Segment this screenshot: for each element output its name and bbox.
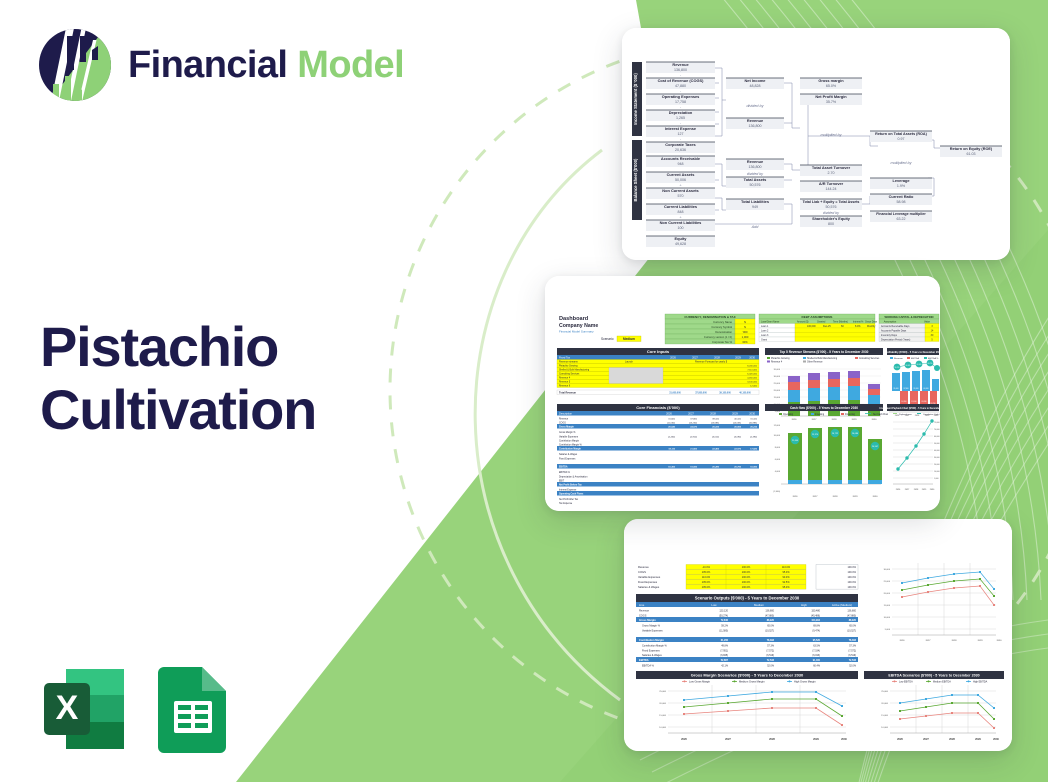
- svg-text:39,100: 39,100: [712, 418, 719, 420]
- svg-text:Gross Margin Scenarios ($'000): Gross Margin Scenarios ($'000) - 5 Years…: [691, 672, 804, 677]
- svg-text:Grace Days: Grace Days: [865, 320, 878, 323]
- svg-text:Accounts Receivable: Accounts Receivable: [661, 156, 701, 161]
- svg-text:Revenue 4: Revenue 4: [559, 378, 571, 380]
- svg-text:Payback year: Payback year: [899, 413, 912, 416]
- brand-name-part2: Model: [297, 44, 404, 86]
- svg-text:Non Current Assets: Non Current Assets: [662, 188, 698, 193]
- svg-text:Granted: Granted: [817, 320, 826, 323]
- svg-text:Loan 3: Loan 3: [761, 334, 769, 337]
- svg-text:30,000: 30,000: [884, 569, 891, 571]
- svg-text:(3,010): (3,010): [712, 436, 719, 438]
- svg-text:2027: 2027: [926, 640, 932, 642]
- svg-text:Return on Total Assets (ROA): Return on Total Assets (ROA): [875, 132, 927, 136]
- svg-text:20,000: 20,000: [934, 464, 940, 466]
- svg-text:Consulting Services: Consulting Services: [559, 373, 580, 376]
- svg-text:100.0%: 100.0%: [742, 576, 751, 579]
- svg-text:(13,230): (13,230): [689, 422, 697, 424]
- svg-text:2.70: 2.70: [828, 171, 835, 175]
- svg-text:6,020,000: 6,020,000: [747, 374, 758, 376]
- svg-text:21,640: 21,640: [792, 440, 799, 442]
- svg-text:Contribution Margin: Contribution Margin: [559, 439, 580, 442]
- svg-text:2028: 2028: [769, 737, 775, 741]
- svg-text:136,800: 136,800: [749, 165, 762, 169]
- svg-text:123,120: 123,120: [719, 610, 728, 613]
- svg-text:26,086: 26,086: [852, 433, 859, 435]
- svg-text:Fixed Expenses: Fixed Expenses: [559, 458, 576, 460]
- svg-text:Total Liabilities: Total Liabilities: [741, 199, 769, 204]
- svg-text:EBITDA: EBITDA: [559, 465, 568, 468]
- svg-text:37,800,000: 37,800,000: [695, 392, 707, 394]
- svg-text:31,600,000: 31,600,000: [669, 392, 681, 394]
- slide-canvas: Financial Model Pistachio Cultivation X: [0, 0, 1048, 782]
- svg-text:72,533: 72,533: [849, 659, 857, 662]
- svg-text:Total Liab + Equity = Total As: Total Liab + Equity = Total Assets: [803, 200, 860, 204]
- svg-text:58.98: 58.98: [897, 200, 906, 204]
- svg-text:Company Name: Company Name: [559, 323, 598, 329]
- svg-text:Cost of Revenue (COGS): Cost of Revenue (COGS): [658, 78, 705, 83]
- svg-text:Core Inputs: Core Inputs: [647, 349, 670, 354]
- svg-text:EBITDA %: EBITDA %: [642, 665, 655, 668]
- page-title: Pistachio Cultivation: [40, 315, 316, 442]
- svg-text:divided by: divided by: [746, 104, 764, 108]
- svg-text:15,000: 15,000: [881, 715, 888, 717]
- svg-text:42.1%: 42.1%: [721, 665, 729, 668]
- svg-text:(7,951): (7,951): [720, 650, 728, 653]
- svg-text:Medium: Medium: [754, 603, 765, 607]
- svg-text:40,100: 40,100: [923, 388, 928, 390]
- svg-text:59.2%: 59.2%: [895, 367, 900, 369]
- svg-text:100.0%: 100.0%: [742, 581, 751, 584]
- svg-text:2026: 2026: [900, 640, 906, 642]
- svg-text:Term (Months): Term (Months): [833, 320, 848, 323]
- svg-text:Interest Expense: Interest Expense: [559, 488, 577, 491]
- svg-text:Gross Margin %: Gross Margin %: [559, 431, 575, 434]
- svg-text:Leverage: Leverage: [892, 178, 910, 183]
- svg-text:25,000: 25,000: [659, 691, 666, 693]
- svg-text:EBIT: EBIT: [559, 480, 565, 482]
- svg-text:100.0%: 100.0%: [742, 586, 751, 589]
- svg-text:12,000: 12,000: [750, 386, 757, 388]
- svg-text:Salaries & Wages: Salaries & Wages: [559, 453, 578, 456]
- svg-text:8,000: 8,000: [775, 447, 781, 449]
- svg-text:Investment Payback Chart ($'00: Investment Payback Chart ($'000) - 5 Yea…: [880, 407, 940, 410]
- svg-text:Fixed Expenses: Fixed Expenses: [638, 580, 658, 584]
- svg-text:20,790: 20,790: [734, 466, 741, 468]
- svg-text:2026: 2026: [897, 737, 903, 741]
- dupont-diagram-thumbnail: Income Statement ($ '000) Balance Sheet …: [622, 28, 1010, 260]
- svg-text:30%: 30%: [742, 340, 748, 344]
- svg-text:X: X: [56, 689, 79, 727]
- svg-text:2029: 2029: [813, 737, 819, 741]
- svg-text:3,100,000: 3,100,000: [747, 382, 758, 384]
- svg-text:DEBT ASSUMPTIONS: DEBT ASSUMPTIONS: [802, 315, 833, 319]
- svg-text:Variable Expenses: Variable Expenses: [642, 630, 663, 633]
- svg-text:Other Revenue: Other Revenue: [807, 361, 823, 364]
- svg-text:2030: 2030: [841, 737, 847, 741]
- svg-text:(9,474): (9,474): [812, 630, 820, 633]
- svg-text:multiplied by: multiplied by: [890, 161, 912, 165]
- svg-text:91,400: 91,400: [813, 659, 821, 662]
- svg-text:8.0%: 8.0%: [855, 325, 861, 328]
- svg-text:2027: 2027: [688, 411, 694, 415]
- svg-text:25,000: 25,000: [881, 691, 888, 693]
- svg-text:2030: 2030: [997, 640, 1003, 642]
- svg-text:70,000: 70,000: [934, 429, 940, 431]
- svg-text:'000: '000: [743, 330, 749, 334]
- svg-text:Equity: Equity: [675, 236, 688, 241]
- svg-text:Gross Margin: Gross Margin: [639, 618, 656, 622]
- svg-text:30,000: 30,000: [934, 457, 940, 459]
- svg-text:2030: 2030: [749, 411, 755, 415]
- svg-text:100.0%: 100.0%: [742, 571, 751, 574]
- svg-text:1.9%: 1.9%: [897, 184, 906, 188]
- svg-text:Financial Leverage multiplier: Financial Leverage multiplier: [876, 212, 926, 216]
- svg-text:78,393: 78,393: [767, 639, 775, 642]
- svg-text:Low Gross Margin: Low Gross Margin: [689, 679, 711, 683]
- svg-text:16,090: 16,090: [750, 466, 757, 468]
- svg-text:Pistachio Growing: Pistachio Growing: [771, 357, 790, 360]
- svg-text:Top 5 Revenue Streams ($'000): Top 5 Revenue Streams ($'000) - 5 Years …: [780, 350, 869, 354]
- svg-text:31,600: 31,600: [668, 418, 675, 420]
- svg-text:Currency Name: Currency Name: [713, 320, 732, 324]
- svg-text:20,215: 20,215: [750, 426, 757, 428]
- svg-text:110.0%: 110.0%: [702, 576, 711, 579]
- svg-text:(6,845): (6,845): [720, 654, 728, 657]
- svg-text:Denomination: Denomination: [715, 330, 732, 334]
- svg-text:150,480: 150,480: [811, 610, 820, 613]
- svg-text:Current Assets: Current Assets: [667, 172, 695, 177]
- screenshot-card-dupont-diagram[interactable]: Income Statement ($ '000) Balance Sheet …: [622, 28, 1010, 260]
- svg-text:(7,572): (7,572): [766, 650, 774, 653]
- svg-text:15,000: 15,000: [774, 397, 781, 399]
- svg-text:Monthly: Monthly: [867, 325, 876, 328]
- svg-text:20,000: 20,000: [774, 390, 781, 392]
- svg-text:39,100: 39,100: [913, 388, 918, 390]
- svg-text:2029: 2029: [853, 496, 859, 498]
- svg-text:Contribution Margin %: Contribution Margin %: [642, 645, 668, 648]
- svg-text:144.24: 144.24: [826, 187, 837, 191]
- svg-text:7,110,000: 7,110,000: [747, 370, 757, 372]
- file-format-icons: X: [38, 663, 232, 760]
- svg-text:2029: 2029: [975, 737, 981, 741]
- svg-text:10,000: 10,000: [934, 471, 940, 473]
- svg-text:40,100,000: 40,100,000: [739, 391, 751, 394]
- svg-text:16,350: 16,350: [668, 466, 675, 468]
- svg-text:65.0%: 65.0%: [849, 625, 857, 628]
- svg-text:Revenue streams: Revenue streams: [559, 361, 579, 364]
- svg-text:High: High: [801, 603, 807, 607]
- svg-text:Investing: Investing: [815, 413, 825, 416]
- svg-text:60.4%: 60.4%: [917, 364, 922, 366]
- svg-text:(10,527): (10,527): [847, 630, 856, 633]
- svg-text:2030: 2030: [993, 737, 999, 741]
- svg-text:Low EBITDA: Low EBITDA: [899, 680, 913, 683]
- svg-text:(3,090): (3,090): [734, 436, 741, 438]
- svg-text:Revenue: Revenue: [747, 118, 764, 123]
- svg-text:Currency Symbol: Currency Symbol: [711, 325, 732, 329]
- svg-text:2026: 2026: [666, 411, 672, 415]
- svg-text:Income Statement ($ '000): Income Statement ($ '000): [633, 73, 638, 125]
- svg-text:75,000: 75,000: [934, 422, 940, 424]
- svg-text:4,450,000: 4,450,000: [747, 378, 758, 380]
- svg-text:2027: 2027: [813, 496, 819, 498]
- svg-text:19,590: 19,590: [911, 401, 916, 403]
- svg-text:Total Revenue: Total Revenue: [559, 391, 577, 394]
- brand-logo: Financial Model: [36, 26, 404, 104]
- svg-text:78,393: 78,393: [849, 639, 857, 642]
- svg-text:95.0%: 95.0%: [782, 586, 790, 589]
- svg-text:Cumulative Cash Generated (Gro: Cumulative Cash Generated (Gross): [923, 413, 940, 416]
- svg-text:EBITDA %: EBITDA %: [559, 471, 570, 474]
- svg-text:2030: 2030: [872, 419, 878, 421]
- svg-text:2028: 2028: [710, 411, 716, 415]
- svg-text:Corporate Tax %: Corporate Tax %: [712, 340, 733, 344]
- svg-text:Accounts Payable Days: Accounts Payable Days: [881, 329, 907, 332]
- svg-text:Net Cash Flow: Net Cash Flow: [873, 413, 888, 416]
- svg-text:(2,910): (2,910): [690, 436, 697, 438]
- svg-text:Current Liabilities: Current Liabilities: [664, 204, 697, 209]
- svg-text:20,636: 20,636: [675, 148, 686, 152]
- svg-text:2029: 2029: [735, 355, 741, 359]
- svg-text:Cash flow ($'000) - 5 Years to: Cash flow ($'000) - 5 Years to December …: [790, 406, 858, 410]
- svg-text:20,280: 20,280: [921, 401, 926, 403]
- svg-text:Contribution Margin: Contribution Margin: [639, 638, 664, 642]
- svg-text:61.03: 61.03: [967, 152, 976, 156]
- svg-text:(11,580): (11,580): [719, 630, 728, 633]
- svg-text:20,000: 20,000: [881, 703, 888, 705]
- svg-text:Launch: Launch: [625, 361, 634, 364]
- svg-text:COGS: COGS: [559, 422, 566, 424]
- svg-text:(50,274): (50,274): [719, 615, 728, 618]
- svg-text:105.0%: 105.0%: [702, 581, 711, 584]
- svg-text:Loan/Grant Name: Loan/Grant Name: [761, 320, 780, 323]
- svg-text:104,994: 104,994: [811, 619, 820, 622]
- svg-text:Description: Description: [559, 411, 573, 415]
- svg-text:20,507: 20,507: [872, 446, 879, 448]
- svg-text:Consulting Services: Consulting Services: [859, 357, 880, 360]
- svg-text:47,880: 47,880: [675, 84, 686, 88]
- svg-text:Total Asset Turnover: Total Asset Turnover: [812, 165, 851, 170]
- svg-text:2026: 2026: [681, 737, 687, 741]
- svg-text:Assumption: Assumption: [884, 320, 897, 323]
- svg-text:Net Income: Net Income: [745, 78, 767, 83]
- svg-text:Revenue: Revenue: [638, 565, 649, 569]
- svg-text:1,000: 1,000: [934, 478, 939, 480]
- svg-text:Return on Equity (ROE): Return on Equity (ROE): [950, 147, 993, 151]
- svg-text:57.3%: 57.3%: [767, 645, 775, 648]
- svg-text:Loan 1: Loan 1: [761, 325, 769, 328]
- svg-text:88,920: 88,920: [767, 619, 775, 622]
- svg-text:Salaries & Wages: Salaries & Wages: [638, 585, 660, 589]
- svg-text:Financing: Financing: [845, 414, 856, 416]
- svg-text:2029: 2029: [852, 419, 858, 421]
- svg-text:(10,885): (10,885): [749, 422, 757, 424]
- svg-text:2029: 2029: [732, 411, 738, 415]
- svg-text:2027: 2027: [812, 419, 818, 421]
- svg-text:Medium Gross Margin: Medium Gross Margin: [739, 679, 765, 683]
- svg-text:5,000: 5,000: [885, 629, 891, 631]
- svg-text:Current Ratio: Current Ratio: [889, 194, 914, 199]
- svg-text:61,266: 61,266: [721, 639, 729, 642]
- svg-text:136,800: 136,800: [749, 124, 762, 128]
- svg-text:Loan 2: Loan 2: [761, 329, 769, 332]
- svg-text:(10,527): (10,527): [765, 630, 774, 633]
- svg-text:Revenue 5: Revenue 5: [559, 382, 571, 384]
- svg-text:37,800: 37,800: [690, 418, 697, 420]
- svg-text:20,280: 20,280: [712, 466, 719, 468]
- svg-text:(6,519): (6,519): [766, 654, 774, 657]
- svg-text:Contribution Margin: Contribution Margin: [559, 447, 582, 450]
- svg-text:EBITDA: EBITDA: [639, 658, 649, 662]
- svg-text:2029: 2029: [978, 640, 984, 642]
- svg-text:Depreciation: Depreciation: [669, 110, 693, 115]
- svg-text:100.0%: 100.0%: [742, 566, 751, 569]
- svg-text:100.0%: 100.0%: [848, 586, 857, 589]
- svg-text:Revenue: Revenue: [672, 62, 689, 67]
- svg-text:72,533: 72,533: [767, 659, 775, 662]
- svg-text:0.97: 0.97: [898, 137, 905, 141]
- svg-text:(13,685): (13,685): [711, 422, 719, 424]
- svg-text:Medium: Medium: [623, 337, 635, 341]
- svg-text:26,722: 26,722: [832, 433, 839, 435]
- svg-text:57.3%: 57.3%: [849, 645, 857, 648]
- svg-text:37,800: 37,800: [903, 388, 908, 390]
- svg-text:25,370: 25,370: [812, 434, 819, 436]
- screenshot-card-dashboard[interactable]: Dashboard Company Name Financial Model S…: [545, 276, 940, 511]
- svg-text:(2,390): (2,390): [750, 436, 757, 438]
- svg-text:(45,486): (45,486): [811, 615, 820, 618]
- svg-text:Shareholder's Equity: Shareholder's Equity: [812, 217, 851, 221]
- svg-text:Scenario Outputs ($'000) - 5 Y: Scenario Outputs ($'000) - 5 Years to De…: [695, 595, 800, 600]
- svg-text:(6,193): (6,193): [812, 654, 820, 657]
- svg-text:15,000: 15,000: [884, 605, 891, 607]
- svg-text:Balance Sheet ($'000): Balance Sheet ($'000): [633, 158, 638, 201]
- svg-text:15,000: 15,000: [659, 715, 666, 717]
- svg-text:18,110: 18,110: [668, 448, 675, 450]
- svg-text:(11,060): (11,060): [667, 422, 675, 424]
- svg-text:Dec-25: Dec-25: [823, 325, 831, 328]
- svg-text:Accounts Receivable Days: Accounts Receivable Days: [881, 325, 910, 328]
- svg-text:2026: 2026: [792, 419, 798, 421]
- svg-text:multiplied by: multiplied by: [820, 133, 842, 137]
- svg-text:Corporate Taxes: Corporate Taxes: [665, 142, 695, 147]
- svg-text:Pistachio Growing: Pistachio Growing: [559, 365, 578, 368]
- svg-text:Operating Cash Flows: Operating Cash Flows: [559, 492, 584, 495]
- svg-text:8,200,000: 8,200,000: [747, 366, 758, 368]
- svg-text:19,590: 19,590: [690, 466, 697, 468]
- svg-text:Revenue: Revenue: [639, 610, 650, 613]
- brand-name-part1: Financial: [128, 44, 287, 86]
- svg-text:49.8%: 49.8%: [721, 645, 729, 648]
- google-sheets-icon: [154, 663, 232, 760]
- svg-text:48,828: 48,828: [750, 84, 761, 88]
- microsoft-excel-icon: X: [38, 663, 130, 760]
- svg-text:17,758: 17,758: [675, 100, 686, 104]
- svg-text:Fixed Tax: Fixed Tax: [559, 355, 571, 359]
- svg-text:2027: 2027: [725, 737, 731, 741]
- svg-text:22,405: 22,405: [712, 447, 719, 450]
- svg-text:39,100,000: 39,100,000: [719, 392, 731, 394]
- svg-text:Revenue Forecast for yearly $: Revenue Forecast for yearly $: [695, 361, 728, 364]
- svg-text:Operating: Operating: [783, 413, 794, 416]
- svg-text:Add: Add: [751, 225, 760, 229]
- svg-text:Net Profit After Tax: Net Profit After Tax: [559, 498, 579, 501]
- svg-text:10,000: 10,000: [884, 617, 891, 619]
- svg-text:20,540: 20,540: [668, 425, 675, 428]
- svg-text:30,000: 30,000: [774, 376, 781, 378]
- svg-text:Medium EBITDA: Medium EBITDA: [933, 680, 951, 683]
- svg-text:Net Profit Margin: Net Profit Margin: [815, 94, 847, 99]
- dashboard-thumbnail: Dashboard Company Name Financial Model S…: [545, 276, 940, 511]
- svg-text:Core Financials ($'000): Core Financials ($'000): [636, 405, 680, 410]
- svg-text:-10.0%: -10.0%: [702, 566, 711, 569]
- svg-text:COGS: COGS: [638, 570, 646, 574]
- svg-text:2026: 2026: [793, 496, 799, 498]
- brand-wordmark: Financial Model: [128, 46, 404, 84]
- svg-text:25,000: 25,000: [774, 383, 781, 385]
- svg-text:COGS: COGS: [639, 615, 647, 618]
- svg-text:Profitability ($'000) - 5 Year: Profitability ($'000) - 5 Years to Decem…: [884, 350, 940, 354]
- svg-text:65.0%: 65.0%: [767, 625, 775, 628]
- svg-text:136,800: 136,800: [765, 610, 774, 613]
- svg-text:Non Current Liabilities: Non Current Liabilities: [660, 220, 702, 225]
- screenshot-card-scenario-analysis[interactable]: Revenue COGS Variable Expenses Fixed Exp…: [624, 519, 1012, 751]
- svg-text:Active (Medium): Active (Medium): [832, 603, 852, 607]
- svg-text:Interest %: Interest %: [853, 320, 863, 323]
- svg-text:63.22: 63.22: [897, 217, 906, 221]
- svg-text:49,628: 49,628: [675, 242, 686, 246]
- svg-text:Gross Margin %: Gross Margin %: [642, 625, 661, 628]
- svg-text:2027: 2027: [923, 737, 929, 741]
- svg-text:2028: 2028: [952, 640, 958, 642]
- svg-text:(2,000): (2,000): [773, 491, 780, 493]
- svg-text:High Gross Margin: High Gross Margin: [794, 679, 816, 683]
- svg-text:60.0%: 60.0%: [906, 365, 911, 367]
- financial-model-circle-logo: [36, 26, 114, 104]
- svg-text:50,000: 50,000: [934, 443, 940, 445]
- svg-text:136,800: 136,800: [847, 610, 856, 613]
- svg-text:2028: 2028: [949, 737, 955, 741]
- svg-text:92.5%: 92.5%: [782, 581, 790, 584]
- svg-text:50,006: 50,006: [675, 178, 686, 182]
- svg-text:88,920: 88,920: [849, 619, 857, 622]
- svg-text:High EBITDA: High EBITDA: [973, 680, 988, 683]
- svg-text:10,000: 10,000: [659, 727, 666, 729]
- svg-text:100.0%: 100.0%: [848, 571, 857, 574]
- svg-text:Dashboard: Dashboard: [559, 316, 589, 322]
- svg-text:848: 848: [678, 210, 684, 214]
- svg-text:Contribution Margin %: Contribution Margin %: [559, 443, 582, 446]
- svg-text:2030: 2030: [873, 496, 879, 498]
- svg-text:(7,572): (7,572): [848, 650, 856, 653]
- svg-text:Shelled & Bulk Manufacturing: Shelled & Bulk Manufacturing: [559, 369, 590, 372]
- page-title-line1: Pistachio: [40, 315, 316, 378]
- svg-text:17,825: 17,825: [750, 448, 757, 450]
- svg-text:Revenue: Revenue: [747, 159, 764, 164]
- svg-text:Gross margin: Gross margin: [818, 78, 844, 83]
- svg-text:105.0%: 105.0%: [702, 586, 711, 589]
- svg-text:22,975: 22,975: [734, 448, 741, 450]
- svg-text:A/R Turnover: A/R Turnover: [819, 181, 844, 186]
- svg-text:25,415: 25,415: [712, 425, 719, 428]
- svg-text:Currency version (1 / 0): Currency version (1 / 0): [704, 335, 732, 339]
- svg-text:100.0%: 100.0%: [848, 566, 857, 569]
- svg-text:90.0%: 90.0%: [782, 576, 790, 579]
- svg-text:Fixed Expenses: Fixed Expenses: [642, 650, 661, 653]
- svg-text:Interest Expense: Interest Expense: [665, 126, 697, 131]
- svg-text:100.0%: 100.0%: [848, 581, 857, 584]
- svg-text:127: 127: [678, 132, 684, 136]
